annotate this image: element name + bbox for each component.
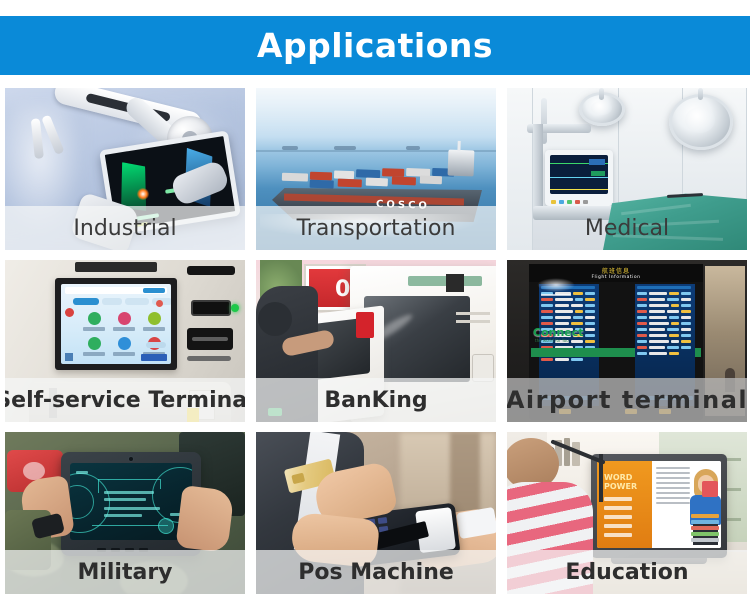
- caption-band-banking: BanKing: [256, 378, 496, 422]
- application-card-pos-machine[interactable]: Pos Machine: [256, 432, 496, 594]
- application-card-airport-terminal[interactable]: 航班信息 Flight Information: [507, 260, 747, 422]
- application-card-industrial[interactable]: Industrial: [5, 88, 245, 250]
- caption-self-service-terminal: Self-service Terminal: [5, 388, 245, 413]
- patient-monitor-icon: [545, 150, 613, 206]
- flight-board-title-cn: 航班信息: [602, 266, 630, 275]
- application-card-self-service-terminal[interactable]: Self-service Terminal: [5, 260, 245, 422]
- caption-band-pos-machine: Pos Machine: [256, 550, 496, 594]
- page-header-banner: Applications: [0, 16, 750, 75]
- caption-education: Education: [565, 560, 688, 585]
- education-tablet-icon: WORD POWER: [591, 454, 727, 558]
- caption-band-medical: Medical: [507, 206, 747, 250]
- application-card-military[interactable]: Military: [5, 432, 245, 594]
- application-card-medical[interactable]: Medical: [507, 88, 747, 250]
- caption-pos-machine: Pos Machine: [298, 560, 454, 585]
- caption-medical: Medical: [585, 216, 669, 241]
- caption-band-transportation: Transportation: [256, 206, 496, 250]
- page-title: Applications: [257, 26, 493, 65]
- kiosk-touchscreen-icon: [55, 278, 177, 370]
- application-card-transportation[interactable]: COSCO Transportation: [256, 88, 496, 250]
- lesson-title: WORD POWER: [604, 473, 652, 491]
- caption-industrial: Industrial: [73, 216, 176, 241]
- caption-band-education: Education: [507, 550, 747, 594]
- caption-band-self-service-terminal: Self-service Terminal: [5, 378, 245, 422]
- applications-page: Applications: [0, 0, 750, 603]
- status-led-icon: [231, 304, 239, 312]
- applications-grid: Industrial: [5, 88, 748, 600]
- caption-airport-terminal: Airport terminal: [507, 386, 747, 414]
- caption-banking: BanKing: [324, 388, 427, 413]
- flight-board-title-en: Flight Information: [591, 275, 640, 280]
- application-card-education[interactable]: WORD POWER: [507, 432, 747, 594]
- caption-transportation: Transportation: [297, 216, 456, 241]
- caption-band-military: Military: [5, 550, 245, 594]
- caption-band-industrial: Industrial: [5, 206, 245, 250]
- caption-band-airport-terminal: Airport terminal: [507, 378, 747, 422]
- application-card-banking[interactable]: 0 BanKi: [256, 260, 496, 422]
- caption-military: Military: [77, 560, 172, 585]
